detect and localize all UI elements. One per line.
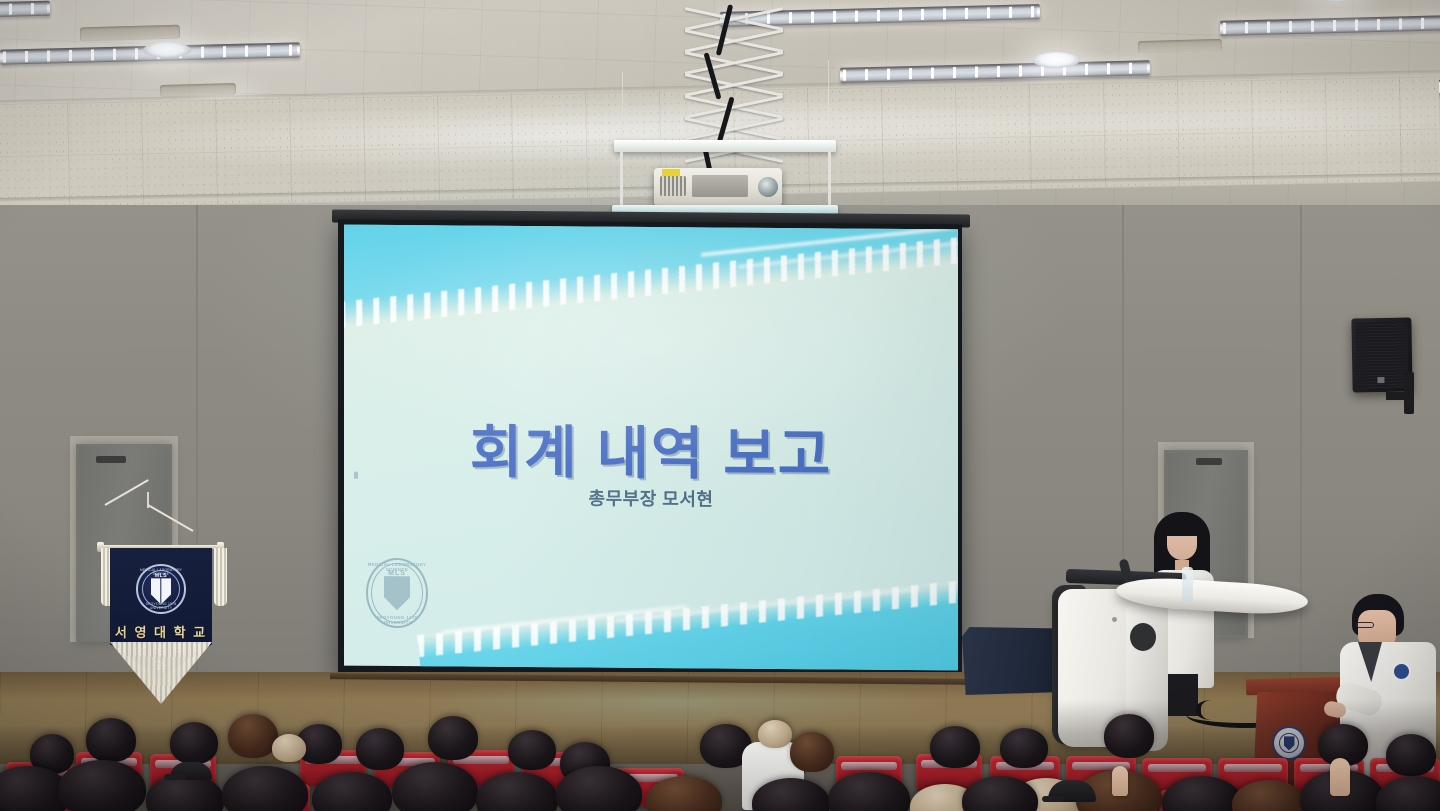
audience-cap — [1048, 780, 1096, 802]
ceiling-strip-light — [0, 1, 50, 19]
projector-post — [620, 148, 623, 210]
audience-head — [1386, 734, 1436, 776]
projector-vents — [660, 176, 686, 196]
projector-hang-wire — [828, 60, 829, 144]
pennant-seal-icon: MEDICAL LABORATORY SCIENCE MLS SEOYOUNG … — [136, 564, 186, 614]
projector-upper-shelf — [614, 140, 836, 152]
projector-unit — [654, 168, 782, 206]
audience-head — [58, 760, 146, 811]
speaker-bracket-arm — [1386, 392, 1412, 400]
audience-area — [0, 700, 1440, 811]
audience-head — [392, 762, 478, 811]
projector-panel — [692, 175, 748, 197]
audience-head — [758, 720, 792, 748]
audience-head — [228, 714, 278, 758]
wall-seam — [1300, 205, 1302, 710]
projector-label — [662, 169, 680, 176]
projector-assembly — [612, 0, 862, 225]
lectern-cable-port — [1130, 623, 1156, 651]
raised-hand — [1112, 766, 1128, 796]
pennant-line-1: 서 영 대 학 교 — [110, 624, 212, 641]
audience-head — [1000, 728, 1048, 768]
logo-monogram: MLS — [366, 570, 428, 577]
auditorium-scene: 회계 내역 보고 총무부장 모서현 MEDICAL LABORATORY SCI… — [0, 0, 1440, 811]
ceiling-vent — [80, 25, 180, 42]
projection-screen: 회계 내역 보고 총무부장 모서현 MEDICAL LABORATORY SCI… — [338, 220, 962, 679]
pennant-fringe — [103, 642, 219, 704]
speaker-logo — [1377, 377, 1384, 383]
raised-hand — [1330, 758, 1350, 796]
audience-cap — [170, 762, 212, 780]
projector-post — [828, 148, 831, 210]
assistant-emblem-patch — [1394, 664, 1409, 679]
assistant-glasses-icon — [1356, 622, 1374, 628]
lectern-indicator[interactable] — [1112, 617, 1117, 622]
audience-head — [428, 716, 478, 760]
ceiling-downlight — [143, 42, 191, 58]
audience-head — [272, 734, 306, 762]
audience-head — [170, 722, 218, 764]
slide-subtitle: 총무부장 모서현 — [344, 483, 958, 514]
department-pennant: MEDICAL LABORATORY SCIENCE MLS SEOYOUNG … — [95, 492, 245, 732]
pennant-tassel-right — [214, 548, 227, 606]
projector-lens — [758, 177, 778, 197]
audience-head — [222, 766, 308, 811]
pennant-cord-right — [148, 504, 194, 532]
water-bottle — [1182, 567, 1193, 603]
slide-title: 회계 내역 보고 — [344, 405, 958, 492]
right-door-closer — [1196, 458, 1222, 465]
ceiling-vent — [1138, 39, 1222, 53]
left-door-closer — [96, 456, 126, 463]
logo-arc-bottom-text: SEOYOUNG 1978 UNIVERSITY — [366, 615, 428, 625]
ceiling-downlight — [1032, 52, 1080, 68]
slide-surface: 회계 내역 보고 총무부장 모서현 MEDICAL LABORATORY SCI… — [344, 225, 958, 671]
audience-head — [790, 732, 834, 772]
university-logo-icon: MEDICAL LABORATORY SCIENCE MLS SEOYOUNG … — [366, 558, 428, 628]
audience-head — [508, 730, 556, 770]
audience-head — [86, 718, 136, 762]
pennant-seal-arc-bottom: SEOYOUNG 1978 UNIVERSITY — [138, 602, 184, 610]
audience-head — [356, 728, 404, 770]
projector-hang-wire — [622, 72, 623, 144]
audience-head — [1104, 714, 1154, 758]
draped-table — [962, 627, 1054, 695]
audience-head — [930, 726, 980, 768]
